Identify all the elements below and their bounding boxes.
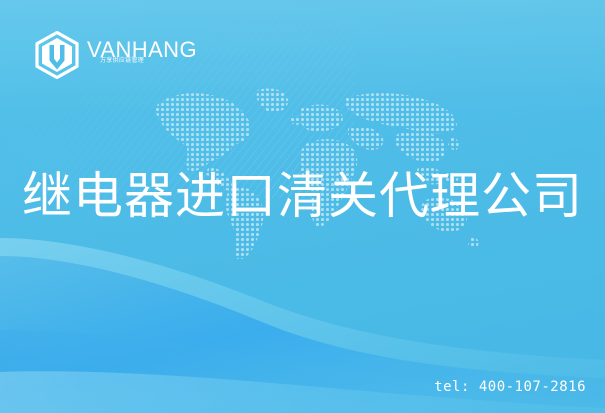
brand-logo[interactable]: VANHANG 万享供应链管理 bbox=[34, 31, 185, 79]
logo-text-block: VANHANG 万享供应链管理 bbox=[87, 38, 185, 72]
page-title: 继电器进口清关代理公司 bbox=[0, 169, 605, 224]
contact-phone: tel: 400-107-2816 bbox=[434, 379, 586, 395]
hexagon-u-arrow-logo-icon bbox=[34, 31, 80, 79]
promo-banner: VANHANG 万享供应链管理 继电器进口清关代理公司 tel: 400-107… bbox=[0, 0, 605, 413]
logo-subtitle: 万享供应链管理 bbox=[100, 58, 144, 64]
